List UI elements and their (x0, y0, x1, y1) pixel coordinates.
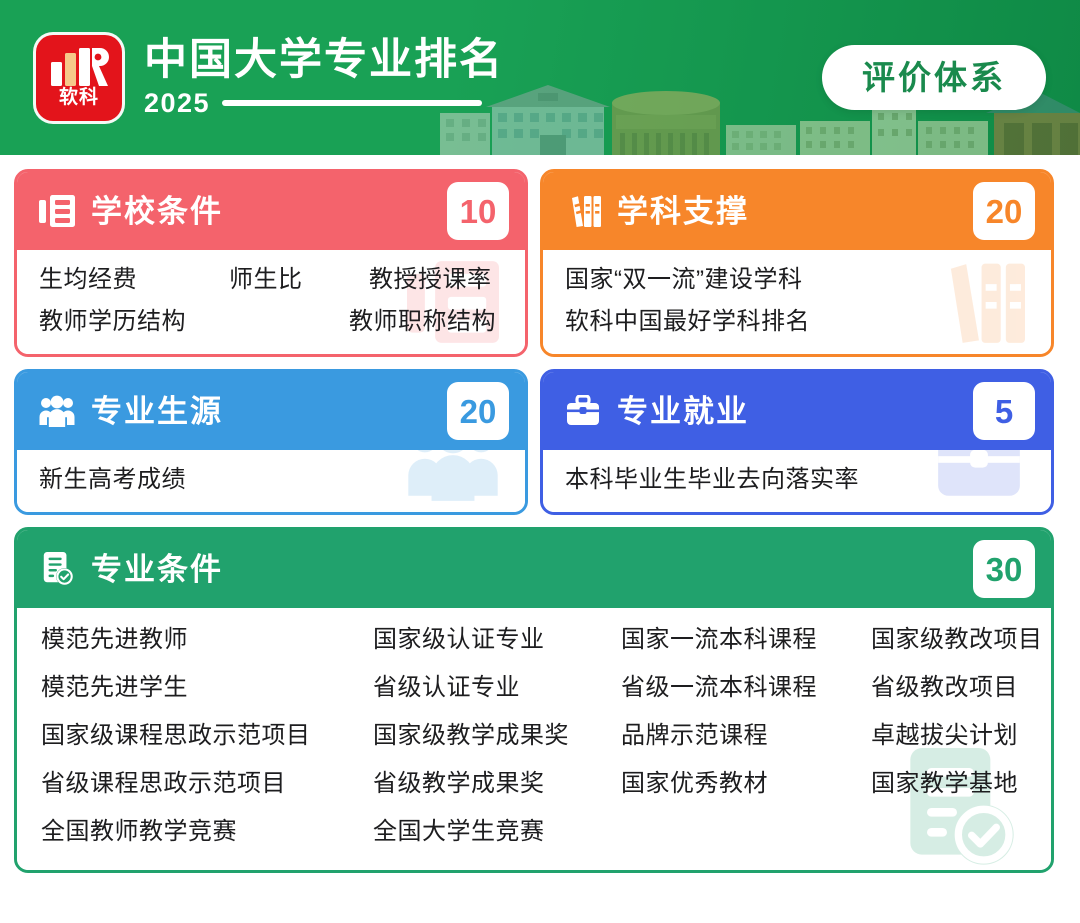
page-header: 软科 中国大学专业排名 2025 评价体系 (0, 0, 1080, 155)
indicator-item: 教师学历结构 (39, 310, 349, 334)
evaluation-system-badge[interactable]: 评价体系 (822, 45, 1046, 111)
card-body: 新生高考成绩 (17, 450, 525, 512)
indicator-item: 教授授课率 (369, 268, 492, 292)
ruanke-logo: 软科 (36, 35, 122, 121)
indicator-item: 国家“双一流”建设学科 (565, 268, 1029, 292)
header-title-block: 中国大学专业排名 2025 (144, 38, 802, 116)
indicator-item: 品牌示范课程 (621, 724, 871, 748)
card-title: 专业生源 (91, 396, 447, 427)
card-header: 学校条件 10 (17, 172, 525, 250)
card-header: 专业条件 30 (17, 530, 1051, 608)
card-school-conditions[interactable]: 学校条件 10 生均经费 师生比 教授授课率 (14, 169, 528, 357)
indicator-column: 模范先进教师 模范先进学生 国家级课程思政示范项目 省级课程思政示范项目 全国教… (41, 628, 373, 844)
indicator-item: 国家教学基地 (871, 772, 1051, 796)
indicator-item: 国家一流本科课程 (621, 628, 871, 652)
people-group-icon (39, 394, 75, 428)
card-discipline-support[interactable]: 学科支撑 20 (540, 169, 1054, 357)
indicator-item: 国家级认证专业 (373, 628, 621, 652)
indicator-item: 教师职称结构 (349, 310, 496, 334)
card-score-badge: 30 (973, 540, 1035, 598)
indicator-item: 国家级教改项目 (871, 628, 1051, 652)
indicator-item: 模范先进教师 (41, 628, 373, 652)
indicator-item: 省级一流本科课程 (621, 676, 871, 700)
indicator-item: 生均经费 (39, 268, 229, 292)
card-major-employment[interactable]: 专业就业 5 本科毕业生毕业去向落实率 (540, 369, 1054, 515)
card-title: 专业就业 (617, 396, 973, 427)
logo-text: 软科 (59, 88, 99, 107)
card-score-badge: 20 (447, 382, 509, 440)
page-year: 2025 (144, 90, 210, 117)
indicator-item: 国家优秀教材 (621, 772, 871, 796)
card-score-badge: 10 (447, 182, 509, 240)
indicator-item: 全国大学生竞赛 (373, 820, 621, 844)
indicator-item: 省级认证专业 (373, 676, 621, 700)
indicator-column: 国家一流本科课程 省级一流本科课程 品牌示范课程 国家优秀教材 (621, 628, 871, 844)
card-title: 专业条件 (91, 554, 973, 585)
indicator-item: 模范先进学生 (41, 676, 373, 700)
card-title: 学校条件 (91, 196, 447, 227)
card-score-badge: 5 (973, 382, 1035, 440)
document-check-icon (39, 552, 75, 586)
indicator-item: 省级教学成果奖 (373, 772, 621, 796)
indicator-item: 本科毕业生毕业去向落实率 (565, 468, 1029, 492)
card-body: 本科毕业生毕业去向落实率 (543, 450, 1051, 512)
indicator-column: 国家级教改项目 省级教改项目 卓越拔尖计划 国家教学基地 (871, 628, 1051, 844)
card-body: 生均经费 师生比 教授授课率 教师学历结构 教师职称结构 (17, 250, 525, 354)
briefcase-icon (565, 394, 601, 428)
indicator-item: 师生比 (229, 268, 369, 292)
school-building-icon (39, 194, 75, 228)
indicator-item: 全国教师教学竞赛 (41, 820, 373, 844)
books-icon (565, 194, 601, 228)
indicator-item: 国家级课程思政示范项目 (41, 724, 373, 748)
indicator-column: 国家级认证专业 省级认证专业 国家级教学成果奖 省级教学成果奖 全国大学生竞赛 (373, 628, 621, 844)
card-title: 学科支撑 (617, 196, 973, 227)
card-header: 专业生源 20 (17, 372, 525, 450)
criteria-card-grid: 学校条件 10 生均经费 师生比 教授授课率 (0, 155, 1080, 885)
card-major-enrollment[interactable]: 专业生源 20 新生高考成绩 (14, 369, 528, 515)
indicator-item: 省级课程思政示范项目 (41, 772, 373, 796)
card-score-badge: 20 (973, 182, 1035, 240)
card-body: 国家“双一流”建设学科 软科中国最好学科排名 (543, 250, 1051, 354)
indicator-columns: 模范先进教师 模范先进学生 国家级课程思政示范项目 省级课程思政示范项目 全国教… (41, 628, 1029, 844)
card-major-conditions[interactable]: 专业条件 30 模 (14, 527, 1054, 873)
indicator-row: 教师学历结构 教师职称结构 (39, 310, 503, 334)
title-rule (222, 100, 482, 106)
indicator-item: 卓越拔尖计划 (871, 724, 1051, 748)
indicator-item: 国家级教学成果奖 (373, 724, 621, 748)
card-header: 学科支撑 20 (543, 172, 1051, 250)
infographic-page: 软科 中国大学专业排名 2025 评价体系 (0, 0, 1080, 923)
indicator-item: 新生高考成绩 (39, 468, 503, 492)
page-title: 中国大学专业排名 (144, 38, 802, 83)
indicator-item: 省级教改项目 (871, 676, 1051, 700)
indicator-item: 软科中国最好学科排名 (565, 310, 1029, 334)
card-header: 专业就业 5 (543, 372, 1051, 450)
card-body: 模范先进教师 模范先进学生 国家级课程思政示范项目 省级课程思政示范项目 全国教… (17, 608, 1051, 870)
ruanke-bar-chart-icon (49, 48, 109, 86)
indicator-row: 生均经费 师生比 教授授课率 (39, 268, 503, 292)
